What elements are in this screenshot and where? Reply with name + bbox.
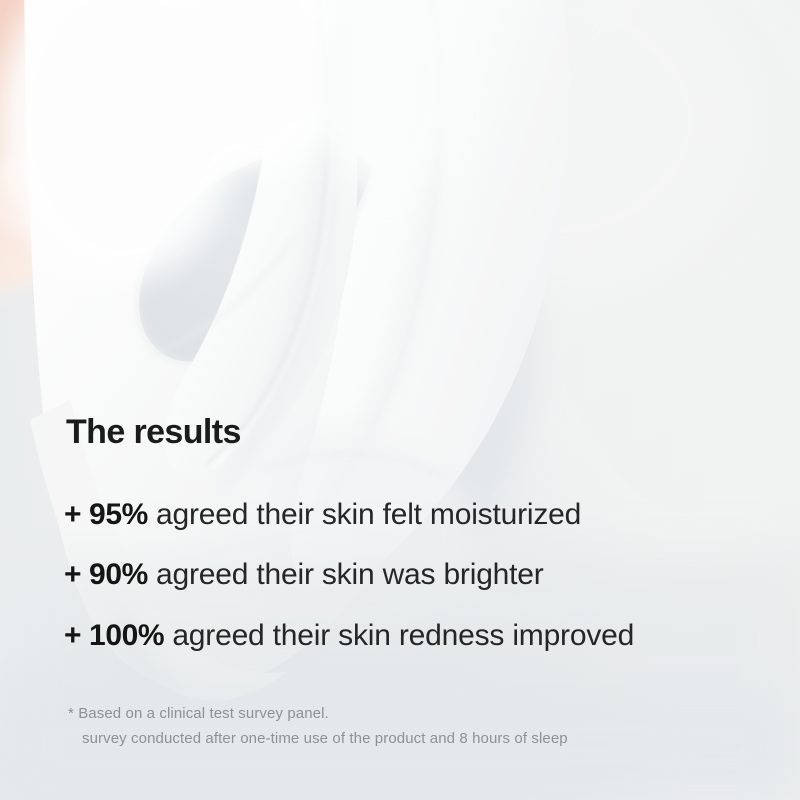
stat-value: + 90%: [64, 558, 148, 591]
stat-value: + 100%: [64, 619, 164, 652]
result-stat-item: + 90% agreed their skin was brighter: [64, 560, 544, 590]
result-stat-item: + 95% agreed their skin felt moisturized: [64, 500, 581, 530]
stat-label: agreed their skin felt moisturized: [148, 498, 581, 531]
stat-label: agreed their skin was brighter: [148, 558, 544, 591]
footnote-line: survey conducted after one-time use of t…: [82, 731, 568, 746]
copy-overlay: The results + 95% agreed their skin felt…: [0, 0, 800, 800]
result-stat-item: + 100% agreed their skin redness improve…: [64, 621, 634, 651]
footnote-line: * Based on a clinical test survey panel.: [68, 706, 329, 721]
page-title: The results: [66, 415, 241, 449]
stat-label: agreed their skin redness improved: [164, 619, 634, 652]
marketing-image: The results + 95% agreed their skin felt…: [0, 0, 800, 800]
stat-value: + 95%: [64, 498, 148, 531]
